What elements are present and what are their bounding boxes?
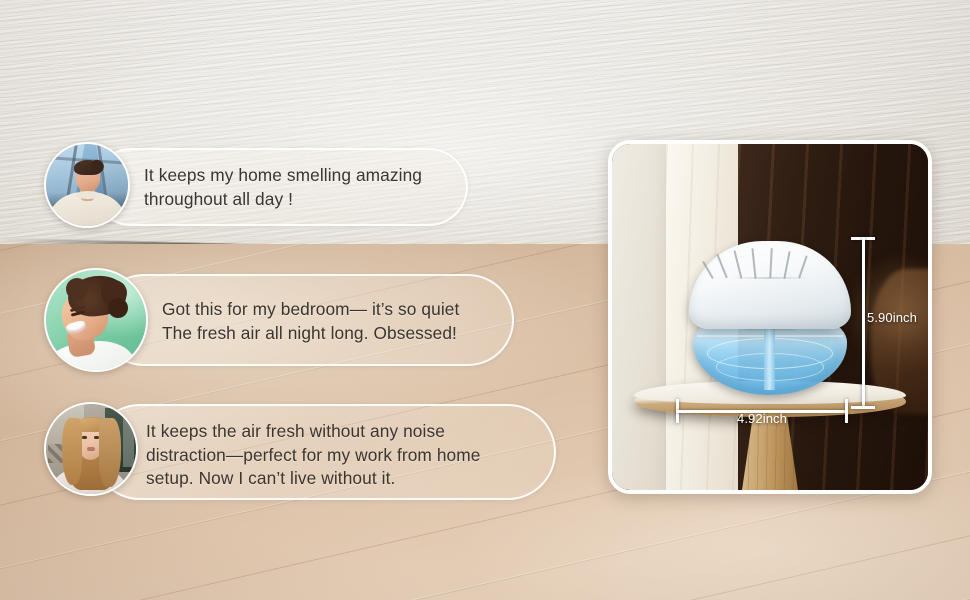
testimonial-quote-2: Got this for my bedroom— it’s so quiet T… bbox=[162, 298, 459, 345]
product-photo-panel[interactable]: 5.90inch 4.92inch bbox=[608, 140, 932, 494]
humidifier-center-stem bbox=[764, 324, 775, 390]
avatar-young-man-window bbox=[44, 142, 130, 228]
width-dimension-label: 4.92inch bbox=[737, 411, 787, 426]
testimonial-quote-3: It keeps the air fresh without any noise… bbox=[146, 420, 480, 491]
height-dimension-label: 5.90inch bbox=[867, 310, 917, 325]
testimonial-bubble-2: Got this for my bedroom— it’s so quiet T… bbox=[98, 274, 514, 366]
avatar-laughing-curly-man bbox=[44, 268, 148, 372]
testimonial-quote-1: It keeps my home smelling amazing throug… bbox=[144, 164, 422, 211]
product-room-scene: 5.90inch 4.92inch bbox=[612, 144, 928, 490]
avatar-artwork-1 bbox=[46, 144, 128, 226]
width-dimension-right-cap bbox=[845, 399, 848, 423]
avatar-blonde-woman-street bbox=[44, 402, 138, 496]
avatar-artwork-3 bbox=[46, 404, 136, 494]
avatar-artwork-2 bbox=[46, 270, 146, 370]
testimonial-bubble-1: It keeps my home smelling amazing throug… bbox=[92, 148, 468, 226]
testimonial-bubble-3: It keeps the air fresh without any noise… bbox=[92, 404, 556, 500]
height-dimension-line bbox=[862, 237, 865, 406]
height-dimension-bottom-cap bbox=[851, 406, 875, 409]
